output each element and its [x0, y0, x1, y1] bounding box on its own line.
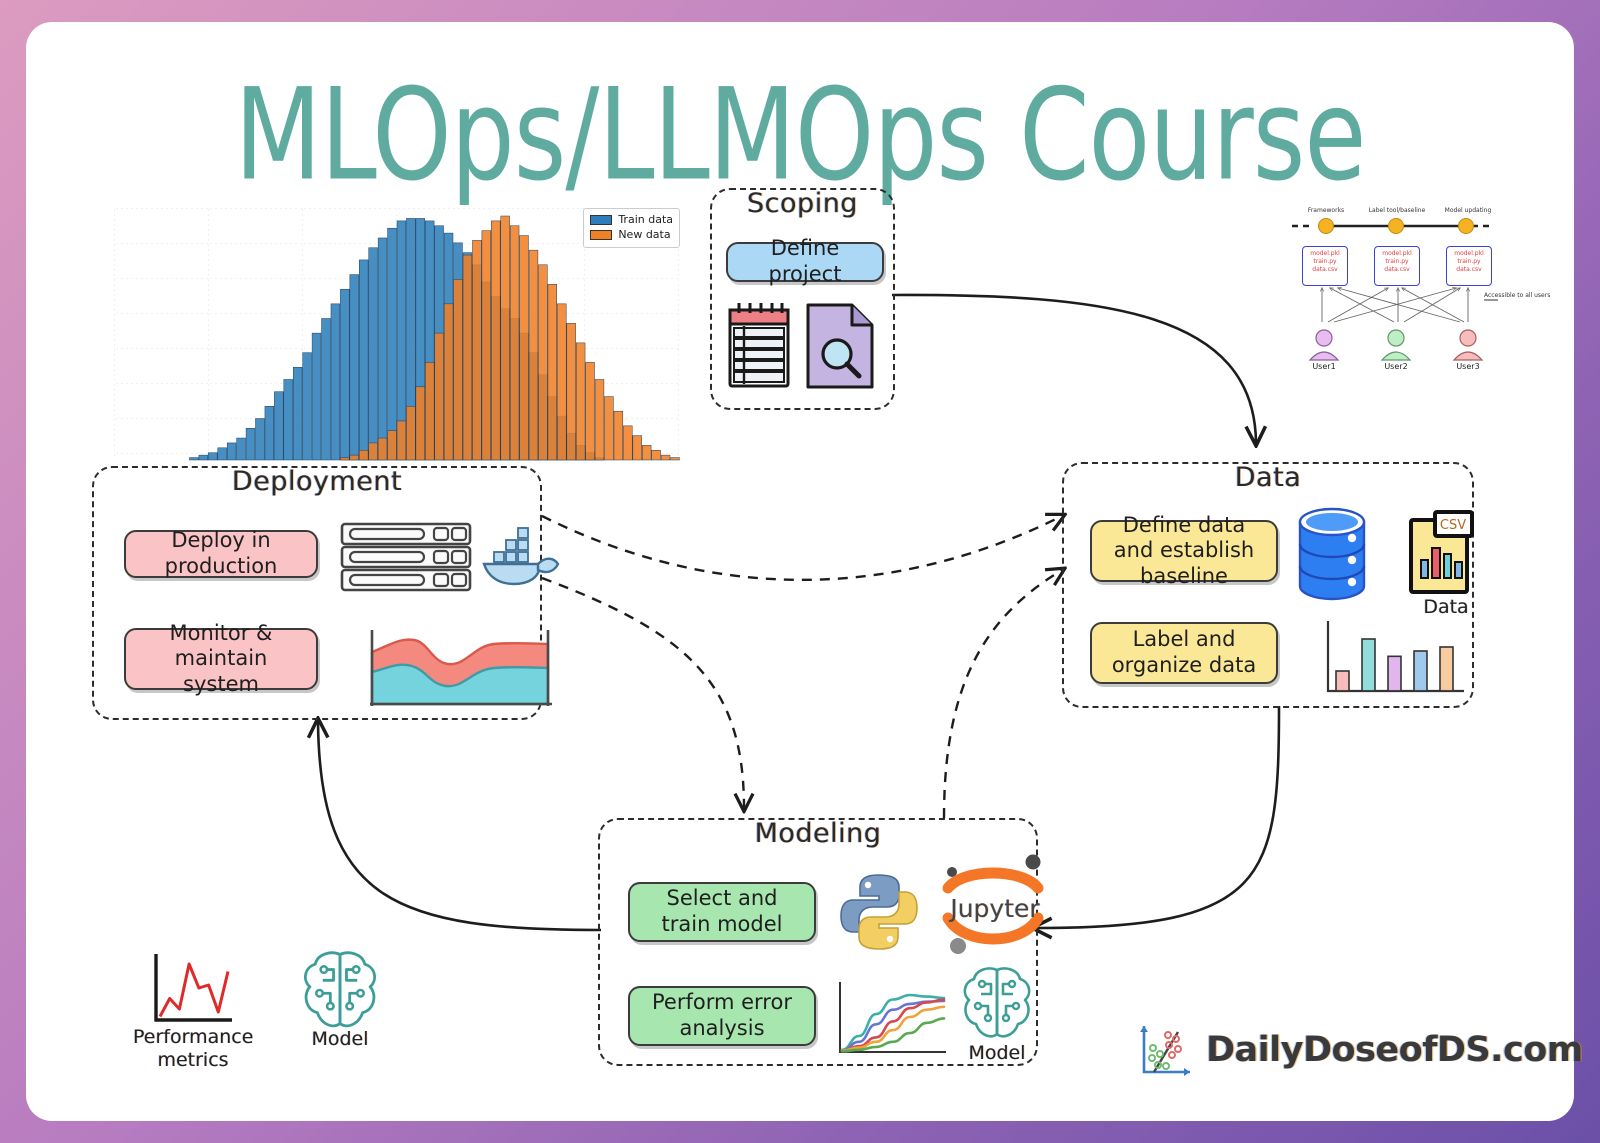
- arrow-data-to-modeling: [1036, 706, 1279, 928]
- user-label-0: User1: [1301, 362, 1347, 371]
- phase-scoping-title: Scoping: [712, 188, 893, 219]
- arrow-deployment-to-modeling: [542, 578, 744, 808]
- svg-text:CSV: CSV: [1440, 518, 1466, 533]
- database-icon: [1296, 508, 1368, 600]
- performance-metrics-icon: [150, 952, 236, 1030]
- poster-stage: MLOps/LLMOps Course Train data: [26, 22, 1574, 1121]
- version-card-line: model.pkl: [1447, 250, 1491, 258]
- brain-circuit-icon: [298, 948, 382, 1032]
- timeline-label-2: Model updating: [1440, 207, 1496, 214]
- brand-text: DailyDoseofDS.com: [1206, 1030, 1583, 1070]
- chart-legend: Train data New data: [583, 208, 680, 248]
- arrow-deployment-to-data: [542, 516, 1062, 580]
- scatter-classifier-icon: [1138, 1022, 1194, 1078]
- arrow-modeling-to-deployment: [318, 722, 601, 930]
- page-title: MLOps/LLMOps Course: [49, 60, 1551, 209]
- brand[interactable]: DailyDoseofDS.com: [1138, 1022, 1583, 1078]
- jupyter-logo-caption: Jupyter: [941, 894, 1049, 923]
- phase-deployment-title: Deployment: [94, 466, 540, 497]
- version-card-line: data.csv: [1303, 266, 1347, 274]
- phase-modeling-title: Modeling: [600, 818, 1036, 849]
- step-define-data[interactable]: Define data and establish baseline: [1090, 520, 1278, 582]
- version-card-line: train.py: [1303, 258, 1347, 266]
- phase-scoping[interactable]: Scoping Define project: [710, 188, 895, 410]
- python-logo-icon: [840, 872, 918, 952]
- version-card-line: train.py: [1447, 258, 1491, 266]
- step-select-train-model[interactable]: Select and train model: [628, 882, 816, 942]
- version-card-line: data.csv: [1447, 266, 1491, 274]
- brain-circuit-caption: Model: [937, 1042, 1057, 1064]
- arrow-scoping-to-data: [892, 295, 1256, 442]
- legend-item-new: New data: [590, 228, 673, 243]
- version-card-1: model.pkl train.py data.csv: [1374, 246, 1420, 286]
- legend-swatch-train: [590, 215, 612, 225]
- performance-metrics-caption: Performance metrics: [133, 1026, 253, 1072]
- version-card-line: train.py: [1375, 258, 1419, 266]
- poster-card: MLOps/LLMOps Course Train data: [26, 22, 1574, 1121]
- line-chart-icon: [832, 980, 950, 1060]
- phase-modeling[interactable]: Modeling Select and train model Perform …: [598, 818, 1038, 1066]
- user-label-1: User2: [1373, 362, 1419, 371]
- accessibility-note: Accessible to all users: [1484, 292, 1534, 300]
- legend-label-train: Train data: [618, 213, 673, 228]
- model-icon-caption: Model: [280, 1028, 400, 1050]
- bar-chart-icon: [1320, 619, 1468, 697]
- server-rack-icon: [340, 522, 472, 592]
- document-search-icon: [804, 302, 876, 390]
- phase-data[interactable]: Data Define data and establish baseline …: [1062, 462, 1474, 708]
- brain-circuit-icon: [958, 964, 1036, 1042]
- csv-file-icon: CSV: [1408, 508, 1474, 594]
- timeline-label-1: Label tool/baseline: [1366, 207, 1428, 214]
- step-define-project[interactable]: Define project: [726, 242, 884, 282]
- step-monitor-system[interactable]: Monitor & maintain system: [124, 628, 318, 690]
- legend-item-train: Train data: [590, 213, 673, 228]
- area-chart-icon: [366, 614, 554, 710]
- model-versioning-diagram: Frameworks Label tool/baseline Model upd…: [1288, 204, 1518, 374]
- csv-file-caption: Data: [1386, 596, 1506, 618]
- phase-deployment[interactable]: Deployment Deploy in production Monitor …: [92, 466, 542, 720]
- notepad-icon: [726, 300, 792, 390]
- data-drift-histogram: Train data New data: [114, 208, 680, 460]
- step-error-analysis[interactable]: Perform error analysis: [628, 986, 816, 1046]
- timeline-label-0: Frameworks: [1298, 207, 1354, 214]
- phase-data-title: Data: [1064, 462, 1472, 493]
- version-card-line: data.csv: [1375, 266, 1419, 274]
- arrow-modeling-to-data: [944, 570, 1062, 818]
- version-card-line: model.pkl: [1303, 250, 1347, 258]
- version-card-line: model.pkl: [1375, 250, 1419, 258]
- docker-whale-icon: [480, 530, 560, 588]
- step-deploy-production[interactable]: Deploy in production: [124, 530, 318, 578]
- user-label-2: User3: [1445, 362, 1491, 371]
- legend-label-new: New data: [618, 228, 670, 243]
- step-label-data[interactable]: Label and organize data: [1090, 622, 1278, 684]
- legend-swatch-new: [590, 230, 612, 240]
- version-card-0: model.pkl train.py data.csv: [1302, 246, 1348, 286]
- version-card-2: model.pkl train.py data.csv: [1446, 246, 1492, 286]
